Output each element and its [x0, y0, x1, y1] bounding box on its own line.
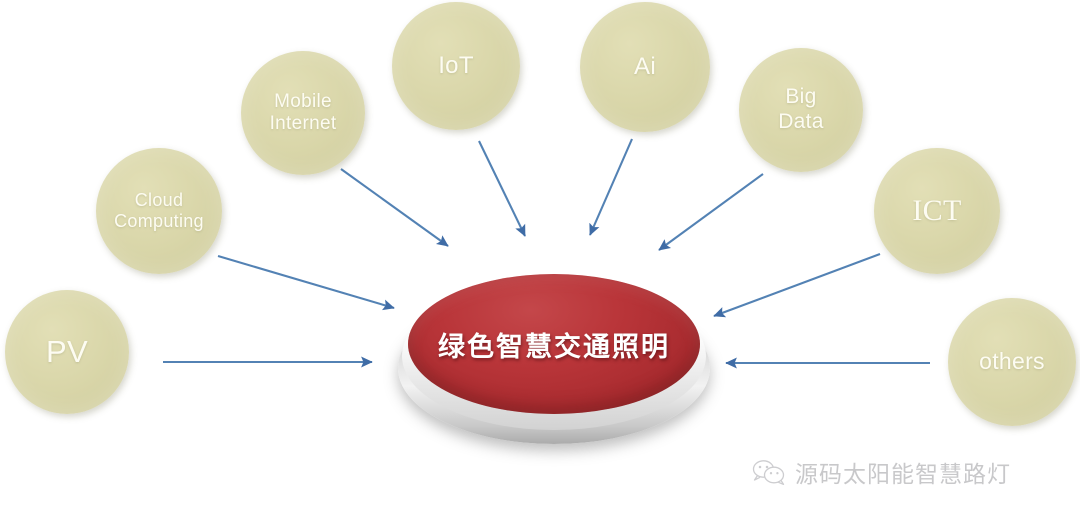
node-pv[interactable]: PV: [5, 290, 129, 414]
node-cloud-computing[interactable]: Cloud Computing: [96, 148, 222, 274]
center-label: 绿色智慧交通照明: [438, 325, 670, 364]
disc-top-face: 绿色智慧交通照明: [408, 274, 700, 414]
arrow-cloud-computing-to-center: [218, 256, 394, 308]
node-label: Big Data: [778, 85, 824, 135]
node-big-data[interactable]: Big Data: [739, 48, 863, 172]
wechat-icon: [752, 459, 786, 486]
node-ai[interactable]: Ai: [580, 2, 710, 132]
arrow-iot-to-center: [479, 141, 525, 236]
node-iot[interactable]: IoT: [392, 2, 520, 130]
node-label: PV: [46, 334, 88, 371]
node-label: IoT: [438, 52, 474, 80]
center-node[interactable]: 绿色智慧交通照明: [398, 274, 710, 444]
watermark: 源码太阳能智慧路灯: [752, 455, 1011, 489]
node-label: Mobile Internet: [270, 91, 337, 136]
arrow-ict-to-center: [714, 254, 880, 316]
arrow-big-data-to-center: [659, 174, 763, 250]
arrow-ai-to-center: [590, 139, 632, 235]
node-label: others: [979, 348, 1045, 375]
diagram-canvas: PVCloud ComputingMobile InternetIoTAiBig…: [0, 0, 1080, 524]
node-ict[interactable]: ICT: [874, 148, 1000, 274]
node-label: Ai: [634, 53, 656, 81]
node-mobile-internet[interactable]: Mobile Internet: [241, 51, 365, 175]
node-others[interactable]: others: [948, 298, 1076, 426]
arrow-mobile-internet-to-center: [341, 169, 448, 246]
node-label: ICT: [912, 193, 961, 228]
watermark-text: 源码太阳能智慧路灯: [795, 455, 1011, 489]
node-label: Cloud Computing: [114, 190, 204, 232]
